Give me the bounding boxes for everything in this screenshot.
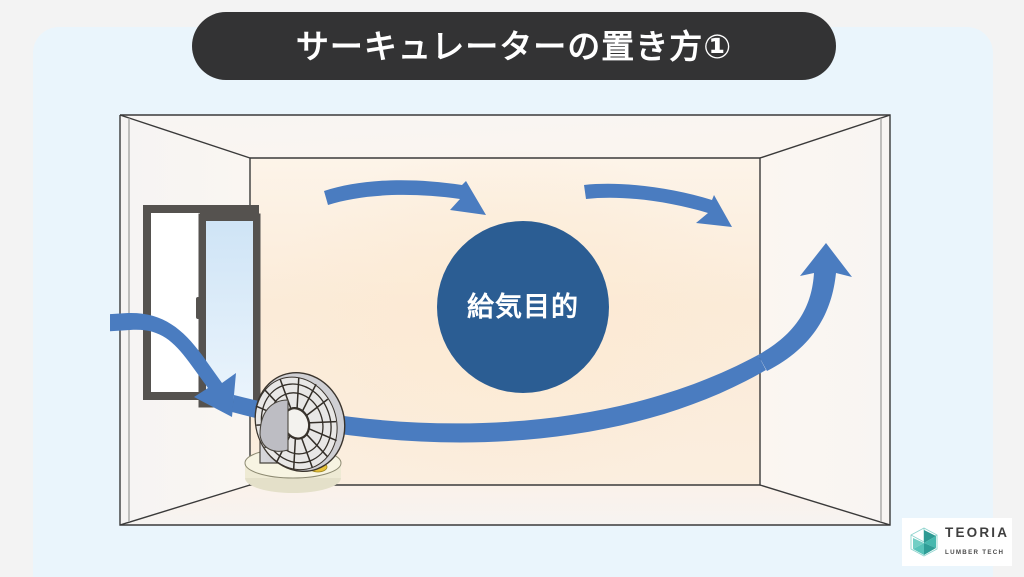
slide-title-text: サーキュレーターの置き方① bbox=[296, 30, 732, 63]
room-right-wall bbox=[760, 115, 890, 525]
purpose-circle-label: 給気目的 bbox=[467, 294, 579, 321]
slide-title-pill: サーキュレーターの置き方① bbox=[192, 12, 836, 80]
purpose-circle: 給気目的 bbox=[437, 221, 609, 393]
screenshot-canvas: サーキュレーターの置き方① bbox=[0, 0, 1024, 577]
logo-name: TEORIA bbox=[945, 525, 1009, 540]
brand-logo: TEORIA LUMBER TECH bbox=[902, 518, 1012, 566]
logo-wordmark: TEORIA LUMBER TECH bbox=[945, 525, 1009, 559]
teoria-polyhedron-icon bbox=[906, 524, 942, 560]
logo-subtitle: LUMBER TECH bbox=[945, 549, 1004, 556]
